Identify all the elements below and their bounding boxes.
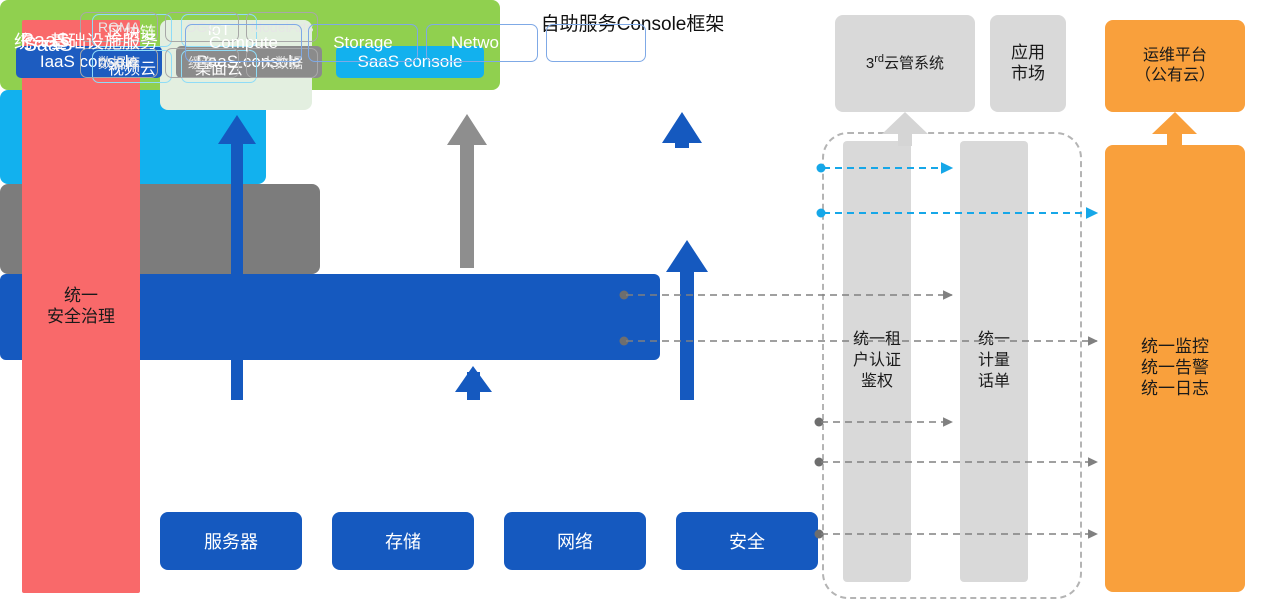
app-market-box: 应用 市场 — [990, 15, 1066, 112]
arrow-saas-to-console — [662, 112, 702, 148]
third-party-cloud-management-box: 3rd云管系统 — [835, 15, 975, 112]
infra-service-network[interactable]: Network — [426, 24, 538, 62]
third-party-cloud-management-label: 3rd云管系统 — [866, 53, 944, 73]
arrow-ops-column-to-ops-platform — [1152, 112, 1197, 146]
infra-service-storage[interactable]: Storage — [308, 24, 418, 62]
infra-service-compute[interactable]: Compute — [185, 24, 302, 62]
resource-box-server[interactable]: 服务器 — [160, 512, 302, 570]
ops-monitoring-label: 统一监控 统一告警 统一日志 — [1141, 337, 1209, 399]
unified-security-governance-panel: 统一 安全治理 — [22, 20, 140, 593]
unified-metering-billing-column: 统一 计量 话单 — [960, 141, 1028, 582]
resource-box-storage[interactable]: 存储 — [332, 512, 474, 570]
ops-platform-public-cloud-box: 运维平台 （公有云） — [1105, 20, 1245, 112]
resource-box-security[interactable]: 安全 — [676, 512, 818, 570]
infra-service-cce[interactable]: CCE — [546, 24, 646, 62]
unified-security-governance-label: 统一 安全治理 — [47, 286, 115, 327]
ops-platform-public-cloud-label: 运维平台 （公有云） — [1135, 46, 1215, 85]
diagram-canvas: 统一 安全治理 API网关 自助服务Console框架 IaaS console… — [0, 0, 1265, 605]
arrow-infra-to-paas — [455, 366, 492, 400]
resource-box-network[interactable]: 网络 — [504, 512, 646, 570]
unified-tenant-auth-label: 统一租 户认证 鉴权 — [853, 330, 901, 392]
app-market-label: 应用 市场 — [1011, 43, 1045, 84]
ops-monitoring-column: 统一监控 统一告警 统一日志 — [1105, 145, 1245, 592]
arrow-paas-to-console — [447, 114, 487, 268]
unified-infrastructure-label: 统一基础设施服务 — [14, 28, 158, 54]
unified-metering-billing-label: 统一 计量 话单 — [978, 330, 1010, 392]
arrow-infra-to-saas — [666, 240, 708, 400]
unified-tenant-auth-column: 统一租 户认证 鉴权 — [843, 141, 911, 582]
